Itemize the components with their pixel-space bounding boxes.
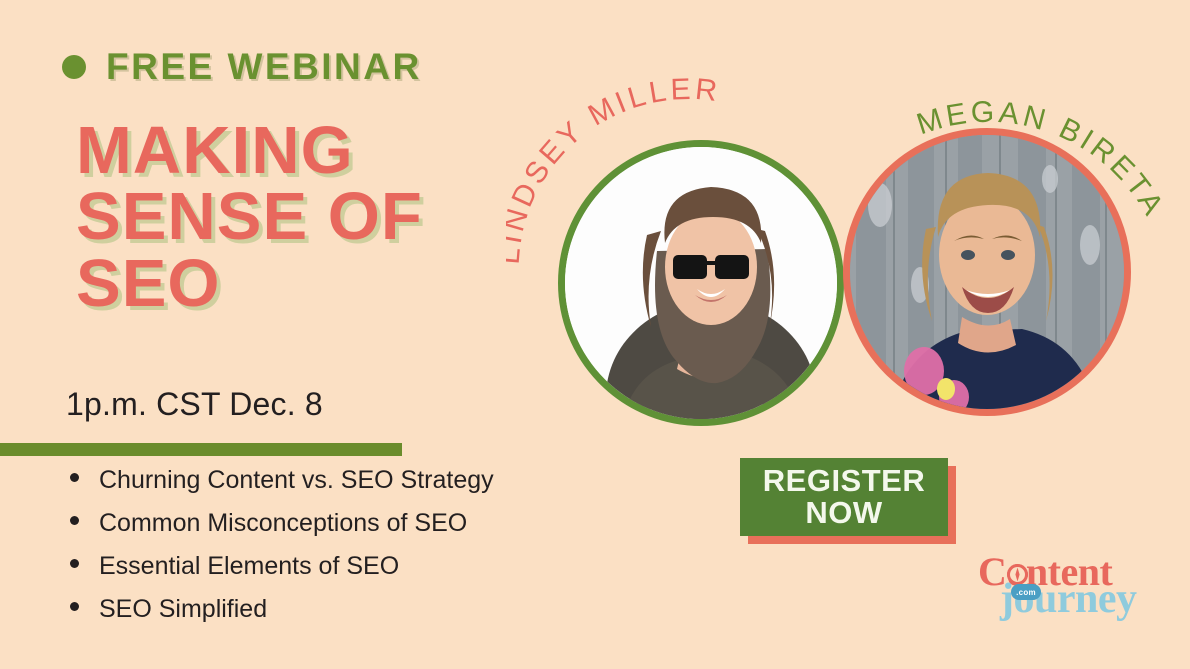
bullet-dot-icon xyxy=(70,559,79,568)
bullet-dot-icon xyxy=(70,516,79,525)
portrait-illustration xyxy=(850,135,1124,409)
portrait-illustration xyxy=(565,147,837,419)
divider-rule xyxy=(0,443,402,456)
bullet-dot-icon xyxy=(70,473,79,482)
eyebrow-row: FREE WEBINAR xyxy=(62,46,422,88)
topic-label: SEO Simplified xyxy=(99,597,267,622)
webinar-promo-poster: FREE WEBINAR MAKING SENSE OF SEO 1p.m. C… xyxy=(0,0,1190,669)
list-item: SEO Simplified xyxy=(70,597,494,622)
list-item: Churning Content vs. SEO Strategy xyxy=(70,468,494,493)
register-label-line1: REGISTER xyxy=(763,465,925,497)
list-item: Essential Elements of SEO xyxy=(70,554,494,579)
eyebrow-label: FREE WEBINAR xyxy=(106,46,422,88)
register-now-button[interactable]: REGISTER NOW xyxy=(740,458,948,536)
speaker-photo-megan-bireta xyxy=(843,128,1131,416)
logo-dotcom-badge: .com xyxy=(1011,584,1041,600)
topic-label: Churning Content vs. SEO Strategy xyxy=(99,468,494,493)
avatar xyxy=(565,147,837,419)
content-journey-logo[interactable]: Content journey .com xyxy=(978,552,1128,618)
avatar xyxy=(850,135,1124,409)
page-title: MAKING SENSE OF SEO xyxy=(76,118,423,317)
bullet-dot-icon xyxy=(70,602,79,611)
topic-label: Common Misconceptions of SEO xyxy=(99,511,467,536)
register-label-line2: NOW xyxy=(805,497,882,529)
speaker-photo-lindsey-miller xyxy=(558,140,844,426)
bullet-dot-icon xyxy=(62,55,86,79)
datetime-label: 1p.m. CST Dec. 8 xyxy=(66,386,323,423)
list-item: Common Misconceptions of SEO xyxy=(70,511,494,536)
topic-label: Essential Elements of SEO xyxy=(99,554,399,579)
topic-list: Churning Content vs. SEO Strategy Common… xyxy=(70,468,494,640)
